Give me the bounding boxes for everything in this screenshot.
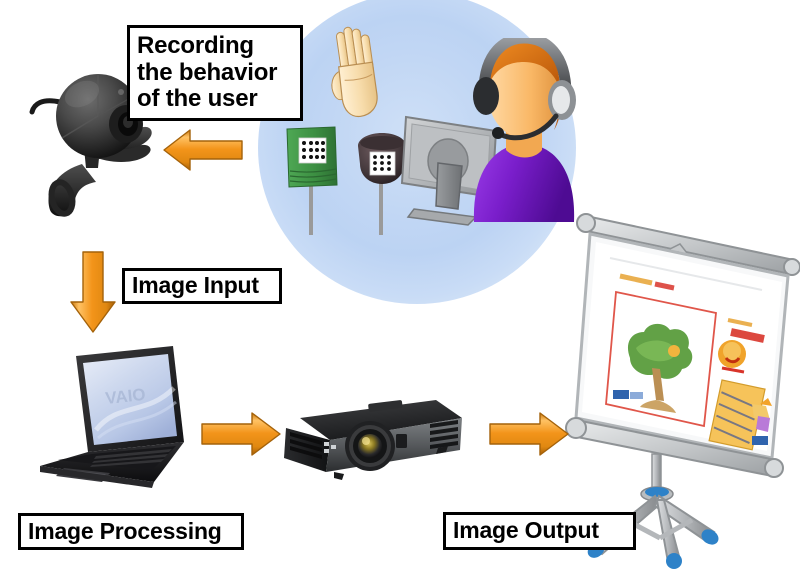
label-image-input: Image Input: [122, 268, 282, 304]
projector-icon: [278, 392, 466, 484]
label-image-input-text: Image Input: [125, 273, 266, 299]
marker-board-green-icon: [281, 125, 343, 235]
label-image-output-text: Image Output: [446, 518, 606, 544]
arrow-webcam-to-laptop: [63, 248, 123, 336]
arrow-scene-to-webcam: [160, 125, 246, 175]
label-image-processing-text: Image Processing: [21, 519, 229, 545]
label-recording-behavior: Recording the behavior of the user: [127, 25, 303, 121]
person-headset-icon: [462, 38, 584, 222]
label-recording-text: Recording the behavior of the user: [130, 33, 284, 114]
arrow-laptop-to-projector: [198, 408, 284, 460]
laptop-icon: VAIO: [36, 342, 216, 490]
arrow-projector-to-screen: [486, 408, 572, 460]
label-image-output: Image Output: [443, 512, 636, 550]
diagram-canvas: VAIO: [0, 0, 800, 572]
label-image-processing: Image Processing: [18, 513, 244, 550]
hand-icon: [322, 25, 384, 125]
